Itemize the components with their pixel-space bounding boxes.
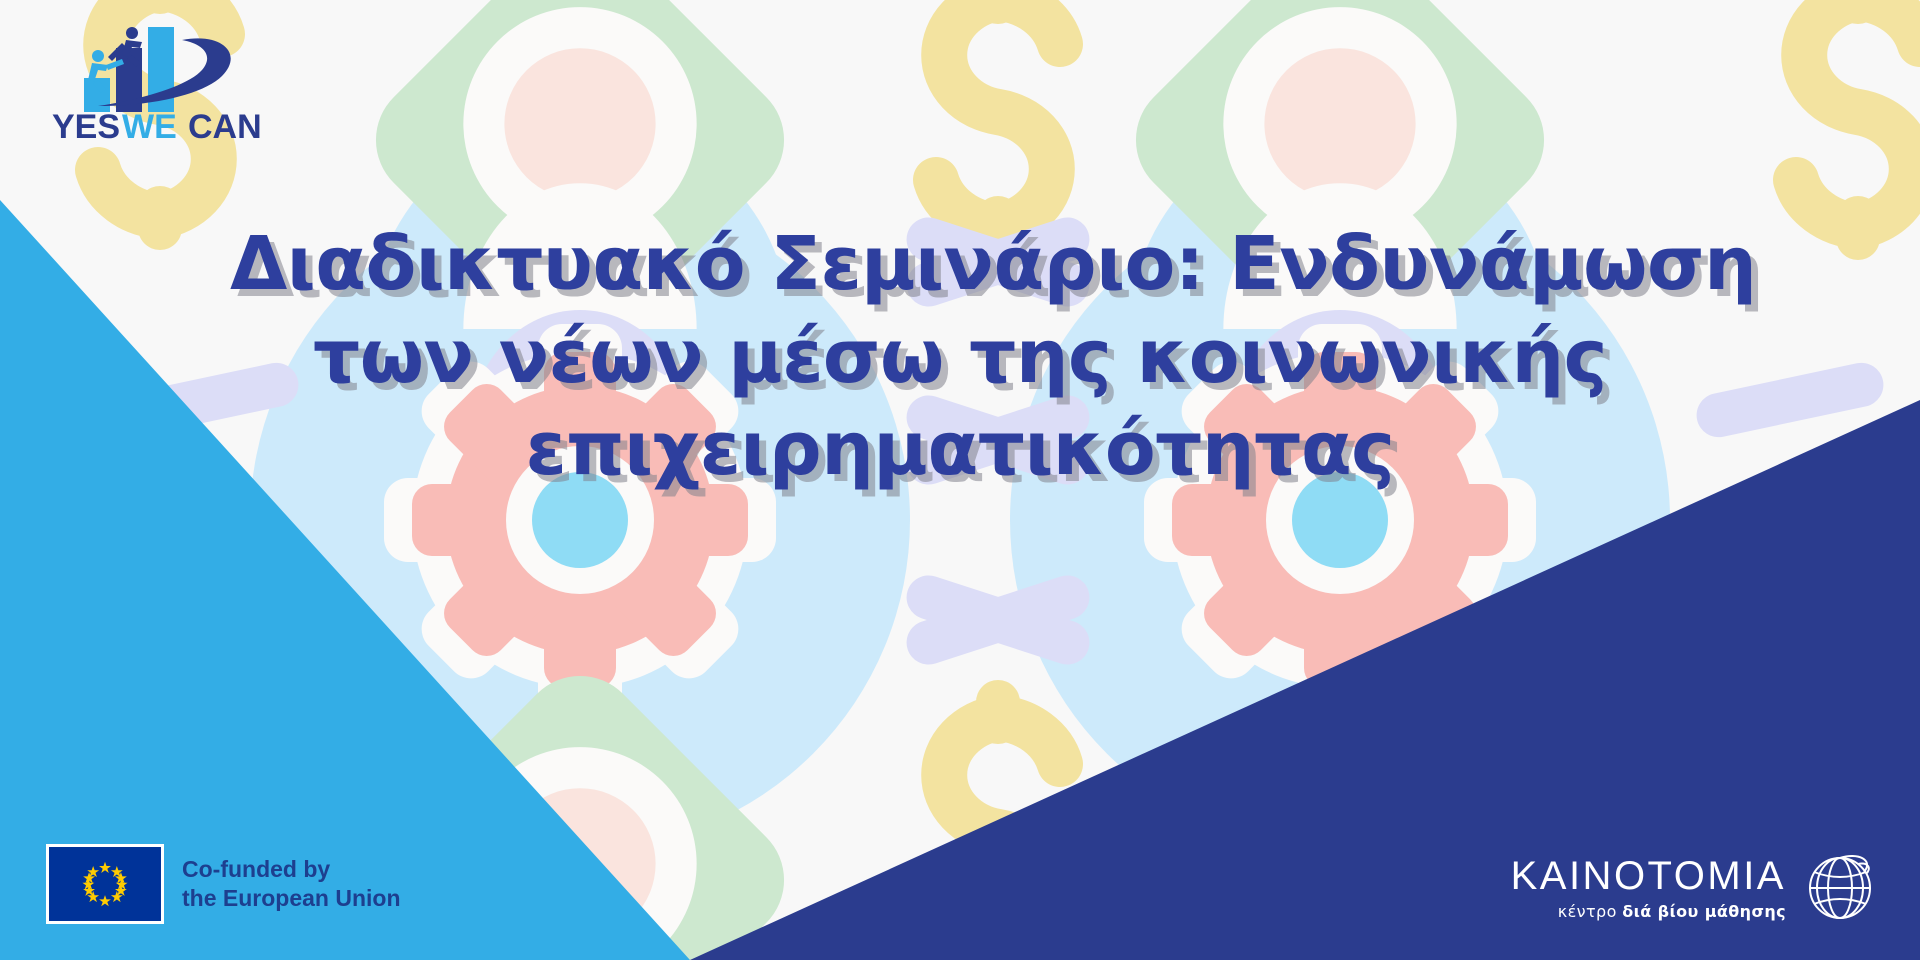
- headline-line-1: Διαδικτυακό Σεμινάριο: Ενδυνάμωση: [230, 218, 1690, 311]
- webinar-banner: YES WE CAN Διαδικτυακό Σεμινάριο: Ενδυνά…: [0, 0, 1920, 960]
- kainotomia-logo: KAINOTOMIA κέντρο διά βίου μάθησης: [1511, 850, 1878, 926]
- eu-badge-line-2: the European Union: [182, 884, 401, 913]
- yes-we-can-logo: YES WE CAN: [36, 10, 266, 145]
- headline-line-3: επιχειρηματικότητας: [230, 403, 1690, 496]
- kainotomia-name: KAINOTOMIA: [1511, 856, 1786, 896]
- globe-icon: [1802, 850, 1878, 926]
- eu-badge-text: Co-funded by the European Union: [182, 855, 401, 914]
- eu-badge-line-1: Co-funded by: [182, 855, 401, 884]
- page-title: Διαδικτυακό Σεμινάριο: Ενδυνάμωση των νέ…: [230, 218, 1690, 496]
- logo-word-can: CAN: [188, 108, 262, 145]
- logo-word-yes: YES: [52, 108, 120, 145]
- kainotomia-tagline-prefix: κέντρο: [1558, 902, 1622, 921]
- headline-line-2: των νέων μέσω της κοινωνικής: [230, 311, 1690, 404]
- european-union-flag: [46, 844, 164, 924]
- eu-cofunding-badge: Co-funded by the European Union: [46, 844, 401, 924]
- kainotomia-tagline-bold: διά βίου μάθησης: [1622, 902, 1786, 921]
- kainotomia-tagline: κέντρο διά βίου μάθησης: [1511, 902, 1786, 921]
- kainotomia-wordmark: KAINOTOMIA κέντρο διά βίου μάθησης: [1511, 856, 1786, 921]
- logo-word-we: WE: [122, 108, 177, 145]
